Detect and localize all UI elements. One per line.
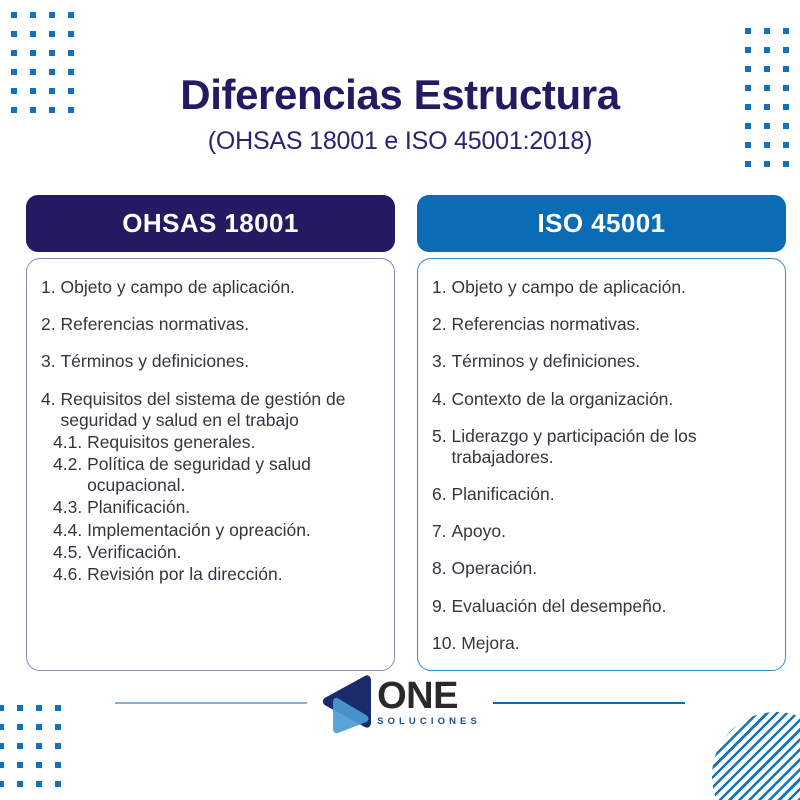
list-item: 4.6. Revisión por la dirección. (41, 564, 380, 585)
decorative-dot (0, 781, 4, 787)
logo-wordmark: ONE (377, 679, 481, 714)
decorative-dot (30, 31, 36, 37)
decorative-dot (36, 762, 42, 768)
clause-list-ohsas: 1. Objeto y campo de aplicación.2. Refer… (41, 277, 380, 585)
list-item-text: Términos y definiciones. (60, 351, 380, 372)
brand-logo: ONE SOLUCIONES (319, 672, 481, 734)
list-item: 1. Objeto y campo de aplicación. (41, 277, 380, 298)
list-item: 2. Referencias normativas. (432, 314, 771, 335)
list-item: 2. Referencias normativas. (41, 314, 380, 335)
list-item: 3. Términos y definiciones. (432, 351, 771, 372)
list-item-number: 5. (432, 426, 451, 468)
list-item-number: 4.3. (53, 497, 87, 518)
comparison-columns: OHSAS 18001 1. Objeto y campo de aplicac… (26, 195, 786, 671)
divider-line-right (493, 702, 685, 704)
footer: ONE SOLUCIONES (0, 668, 800, 738)
header: Diferencias Estructura (OHSAS 18001 e IS… (0, 74, 800, 156)
decorative-dot (745, 161, 751, 167)
decorative-dot (17, 762, 23, 768)
column-header-iso: ISO 45001 (417, 195, 786, 252)
decorative-dot (49, 31, 55, 37)
list-item-number: 4.1. (53, 432, 87, 453)
logo-tagline: SOLUCIONES (377, 716, 481, 727)
list-item-text: Requisitos generales. (87, 432, 380, 453)
list-item: 10. Mejora. (432, 633, 771, 654)
list-item: 9. Evaluación del desempeño. (432, 596, 771, 617)
decorative-dot (55, 762, 61, 768)
list-item-number: 4. (432, 389, 451, 410)
list-item-text: Planificación. (451, 484, 771, 505)
list-item-number: 8. (432, 558, 451, 579)
list-item-number: 4.5. (53, 542, 87, 563)
decorative-dot (55, 781, 61, 787)
decorative-dot (764, 161, 770, 167)
decorative-dot (55, 743, 61, 749)
clause-list-iso: 1. Objeto y campo de aplicación.2. Refer… (432, 277, 771, 654)
decorative-dot (68, 31, 74, 37)
list-item: 7. Apoyo. (432, 521, 771, 542)
page-title: Diferencias Estructura (0, 74, 800, 116)
decorative-dot (17, 781, 23, 787)
logo-text: ONE SOLUCIONES (377, 679, 481, 728)
list-item: 4.5. Verificación. (41, 542, 380, 563)
list-item-number: 9. (432, 596, 451, 617)
decorative-dot (764, 66, 770, 72)
list-item-number: 2. (41, 314, 60, 335)
decorative-dot (49, 12, 55, 18)
list-item-text: Referencias normativas. (60, 314, 380, 335)
play-triangle-icon (319, 672, 375, 734)
column-body-ohsas: 1. Objeto y campo de aplicación.2. Refer… (26, 258, 395, 671)
list-item-text: Operación. (451, 558, 771, 579)
list-item-text: Referencias normativas. (451, 314, 771, 335)
list-item-text: Objeto y campo de aplicación. (451, 277, 771, 298)
decorative-dot (764, 28, 770, 34)
decorative-dot (783, 47, 789, 53)
column-ohsas: OHSAS 18001 1. Objeto y campo de aplicac… (26, 195, 395, 671)
list-item-number: 2. (432, 314, 451, 335)
decorative-dot (49, 50, 55, 56)
list-item-number: 4. (41, 389, 60, 431)
decorative-dot (36, 781, 42, 787)
decorative-dot (764, 47, 770, 53)
list-item: 1. Objeto y campo de aplicación. (432, 277, 771, 298)
list-item-number: 6. (432, 484, 451, 505)
list-item-text: Planificación. (87, 497, 380, 518)
list-item-number: 1. (41, 277, 60, 298)
decorative-dot (30, 50, 36, 56)
list-item: 4. Requisitos del sistema de gestión de … (41, 389, 380, 431)
list-item-number: 7. (432, 521, 451, 542)
list-item: 4. Contexto de la organización. (432, 389, 771, 410)
list-item: 6. Planificación. (432, 484, 771, 505)
list-item: 5. Liderazgo y participación de los trab… (432, 426, 771, 468)
list-item-text: Apoyo. (451, 521, 771, 542)
infographic-canvas: Diferencias Estructura (OHSAS 18001 e IS… (0, 0, 800, 800)
decorative-dot (745, 28, 751, 34)
list-item-text: Liderazgo y participación de los trabaja… (451, 426, 771, 468)
column-header-ohsas: OHSAS 18001 (26, 195, 395, 252)
decorative-dot (68, 12, 74, 18)
column-body-iso: 1. Objeto y campo de aplicación.2. Refer… (417, 258, 786, 671)
list-item-text: Revisión por la dirección. (87, 564, 380, 585)
list-item-text: Política de seguridad y salud ocupaciona… (87, 454, 380, 496)
decorative-dot (17, 743, 23, 749)
list-item-text: Requisitos del sistema de gestión de seg… (60, 389, 380, 431)
list-item-number: 10. (432, 633, 461, 654)
decorative-dot (0, 743, 4, 749)
decorative-dot (11, 12, 17, 18)
list-item-text: Contexto de la organización. (451, 389, 771, 410)
decorative-dot (783, 161, 789, 167)
decorative-dot (11, 50, 17, 56)
list-item: 4.4. Implementación y opreación. (41, 520, 380, 541)
list-item-text: Términos y definiciones. (451, 351, 771, 372)
list-item-text: Evaluación del desempeño. (451, 596, 771, 617)
list-item: 8. Operación. (432, 558, 771, 579)
list-item-number: 4.4. (53, 520, 87, 541)
decorative-dot (30, 12, 36, 18)
list-item-number: 1. (432, 277, 451, 298)
list-item: 4.2. Política de seguridad y salud ocupa… (41, 454, 380, 496)
list-item-text: Objeto y campo de aplicación. (60, 277, 380, 298)
list-item-text: Implementación y opreación. (87, 520, 380, 541)
list-item: 4.3. Planificación. (41, 497, 380, 518)
list-item: 4.1. Requisitos generales. (41, 432, 380, 453)
decorative-dot (783, 28, 789, 34)
page-subtitle: (OHSAS 18001 e ISO 45001:2018) (0, 127, 800, 156)
decorative-dot (11, 31, 17, 37)
divider-line-left (115, 702, 307, 704)
decorative-dot (68, 50, 74, 56)
decorative-dot (783, 66, 789, 72)
column-iso: ISO 45001 1. Objeto y campo de aplicació… (417, 195, 786, 671)
decorative-dot (745, 66, 751, 72)
decorative-dot (745, 47, 751, 53)
list-item: 3. Términos y definiciones. (41, 351, 380, 372)
decorative-dot (0, 762, 4, 768)
list-item-text: Mejora. (461, 633, 771, 654)
list-item-number: 3. (41, 351, 60, 372)
list-item-number: 4.2. (53, 454, 87, 496)
list-item-number: 3. (432, 351, 451, 372)
decorative-dot (36, 743, 42, 749)
list-item-number: 4.6. (53, 564, 87, 585)
list-item-text: Verificación. (87, 542, 380, 563)
